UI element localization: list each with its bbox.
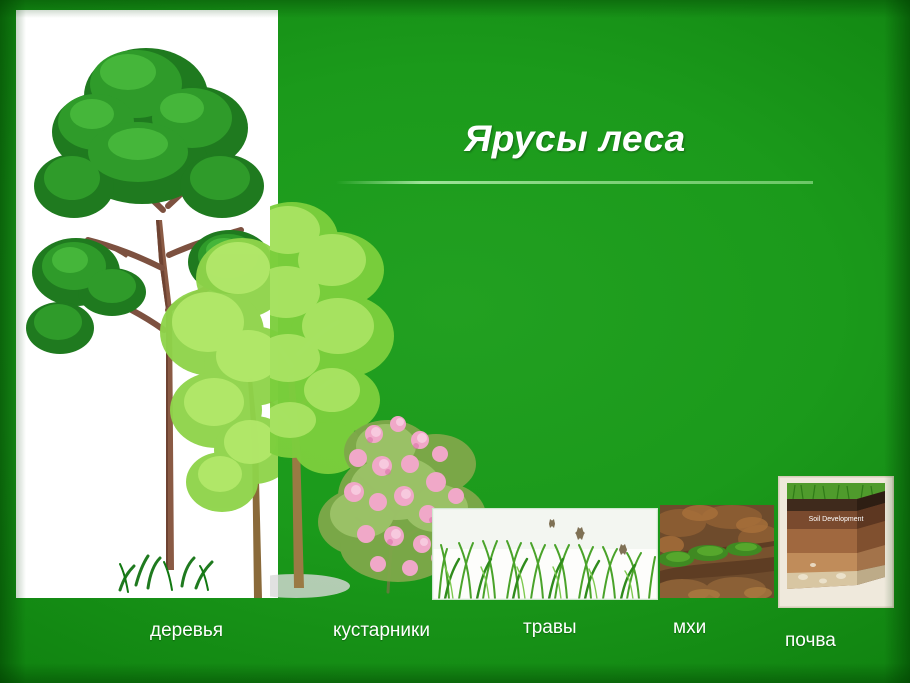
tall-tree-illustration <box>16 10 278 598</box>
layer-image-trees <box>16 10 278 598</box>
moss-on-log-photo <box>660 505 774 598</box>
layer-image-moss <box>660 505 774 598</box>
layer-label-soil: почва <box>785 630 836 652</box>
layer-label-shrubs: кустарники <box>333 620 430 642</box>
soil-caption: Soil Development <box>809 516 864 523</box>
grass-meadow-photo <box>433 509 657 599</box>
page-title: Ярусы леса <box>330 118 820 160</box>
layer-label-trees: деревья <box>150 620 223 642</box>
layer-label-grass: травы <box>523 617 577 639</box>
slide-canvas: Ярусы леса <box>0 0 910 683</box>
title-underline-divider <box>336 181 813 184</box>
soil-profile-photo: Soil Development <box>779 477 893 607</box>
layer-label-moss: мхи <box>673 617 706 639</box>
layer-image-grass <box>432 508 658 600</box>
layer-image-soil: Soil Development <box>778 476 894 608</box>
